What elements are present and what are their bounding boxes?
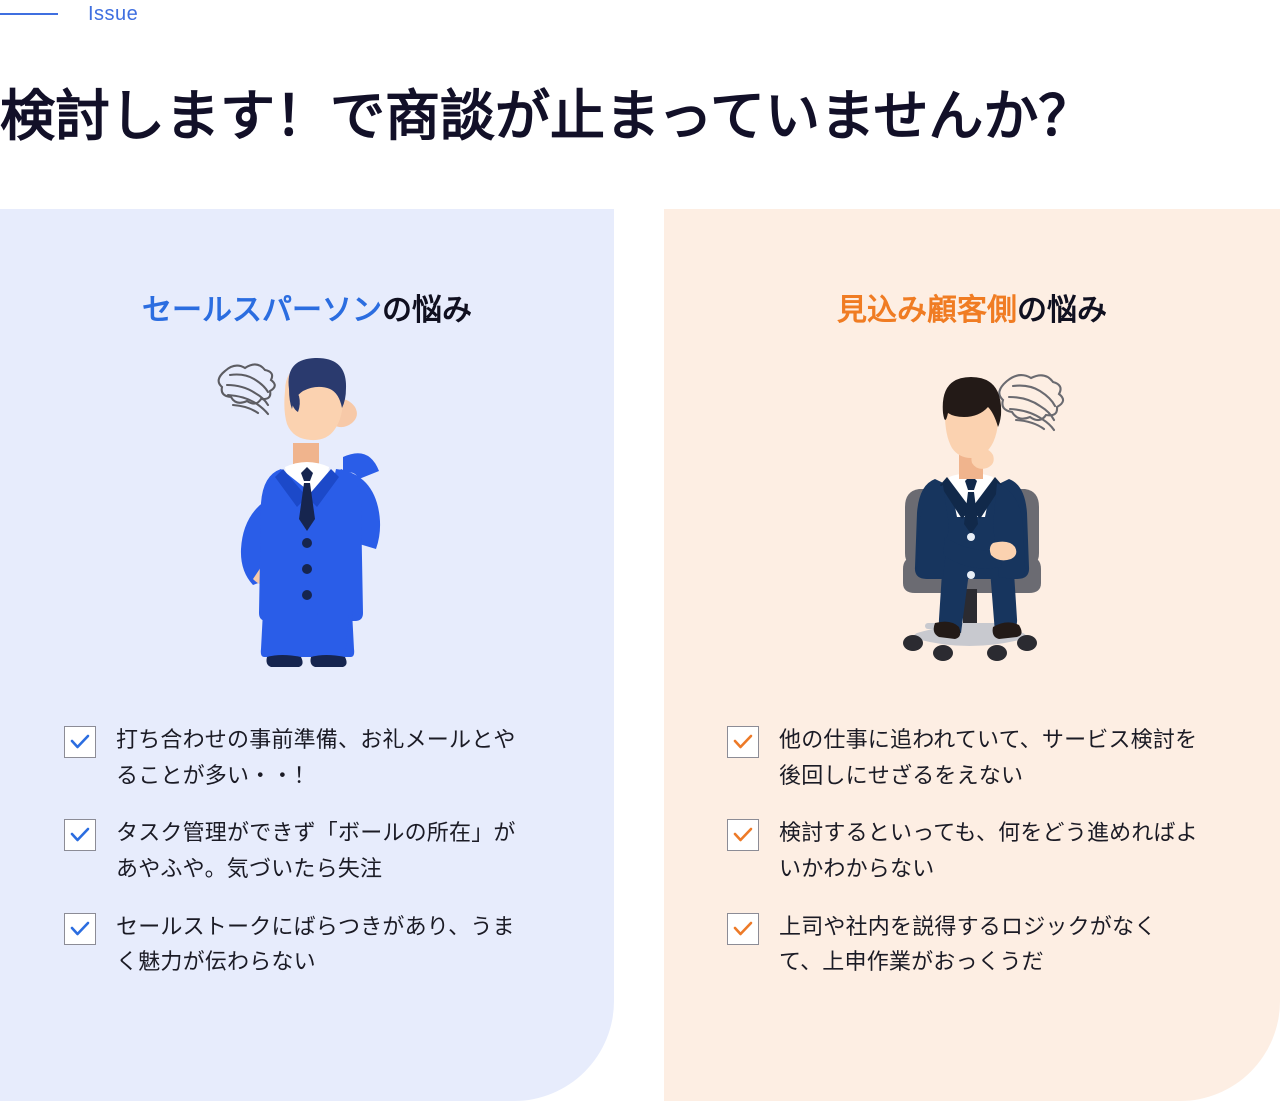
- list-item-text: セールストークにばらつきがあり、うまく魅力が伝わらない: [116, 909, 536, 980]
- checklist-prospect: 他の仕事に追われていて、サービス検討を後回しにせざるをえない 検討するといっても…: [664, 722, 1280, 1002]
- seated-businessman-thinking-icon: [857, 361, 1087, 671]
- card-prospect: 見込み顧客側の悩み: [664, 209, 1280, 1101]
- card-title-accent: セールスパーソン: [142, 294, 382, 327]
- list-item-text: 他の仕事に追われていて、サービス検討を後回しにせざるをえない: [779, 722, 1199, 793]
- card-title-tail: の悩み: [382, 294, 472, 327]
- eyebrow-rule: [0, 13, 58, 15]
- check-icon: [727, 819, 759, 851]
- check-icon: [64, 819, 96, 851]
- card-title-prospect: 見込み顧客側の悩み: [664, 291, 1280, 330]
- card-salesperson: セールスパーソンの悩み: [0, 209, 614, 1101]
- standing-businessman-scratching-head-icon: [197, 347, 417, 677]
- list-item-text: 検討するといっても、何をどう進めればよいかわからない: [779, 815, 1199, 886]
- page-title: 検討します！で商談が止まっていませんか？: [0, 83, 1093, 149]
- issue-cards: セールスパーソンの悩み: [0, 209, 1280, 1101]
- card-title-salesperson: セールスパーソンの悩み: [0, 291, 614, 330]
- check-icon: [64, 726, 96, 758]
- list-item: セールストークにばらつきがあり、うまく魅力が伝わらない: [64, 909, 678, 980]
- check-icon: [727, 913, 759, 945]
- card-title-tail: の悩み: [1017, 294, 1107, 327]
- illustration-seated-businessman: [664, 361, 1280, 671]
- card-title-accent: 見込み顧客側: [837, 294, 1017, 327]
- eyebrow-label: Issue: [88, 4, 138, 24]
- list-item: タスク管理ができず「ボールの所在」があやふや。気づいたら失注: [64, 815, 678, 886]
- list-item-text: 上司や社内を説得するロジックがなくて、上申作業がおっくうだ: [779, 909, 1199, 980]
- list-item: 上司や社内を説得するロジックがなくて、上申作業がおっくうだ: [727, 909, 1280, 980]
- list-item-text: 打ち合わせの事前準備、お礼メールとやることが多い・・！: [116, 722, 536, 793]
- list-item: 打ち合わせの事前準備、お礼メールとやることが多い・・！: [64, 722, 678, 793]
- list-item-text: タスク管理ができず「ボールの所在」があやふや。気づいたら失注: [116, 815, 536, 886]
- list-item: 他の仕事に追われていて、サービス検討を後回しにせざるをえない: [727, 722, 1280, 793]
- illustration-standing-businessman: [0, 347, 614, 677]
- check-icon: [64, 913, 96, 945]
- section-eyebrow: Issue: [0, 0, 138, 28]
- checklist-salesperson: 打ち合わせの事前準備、お礼メールとやることが多い・・！ タスク管理ができず「ボー…: [0, 722, 678, 1002]
- list-item: 検討するといっても、何をどう進めればよいかわからない: [727, 815, 1280, 886]
- check-icon: [727, 726, 759, 758]
